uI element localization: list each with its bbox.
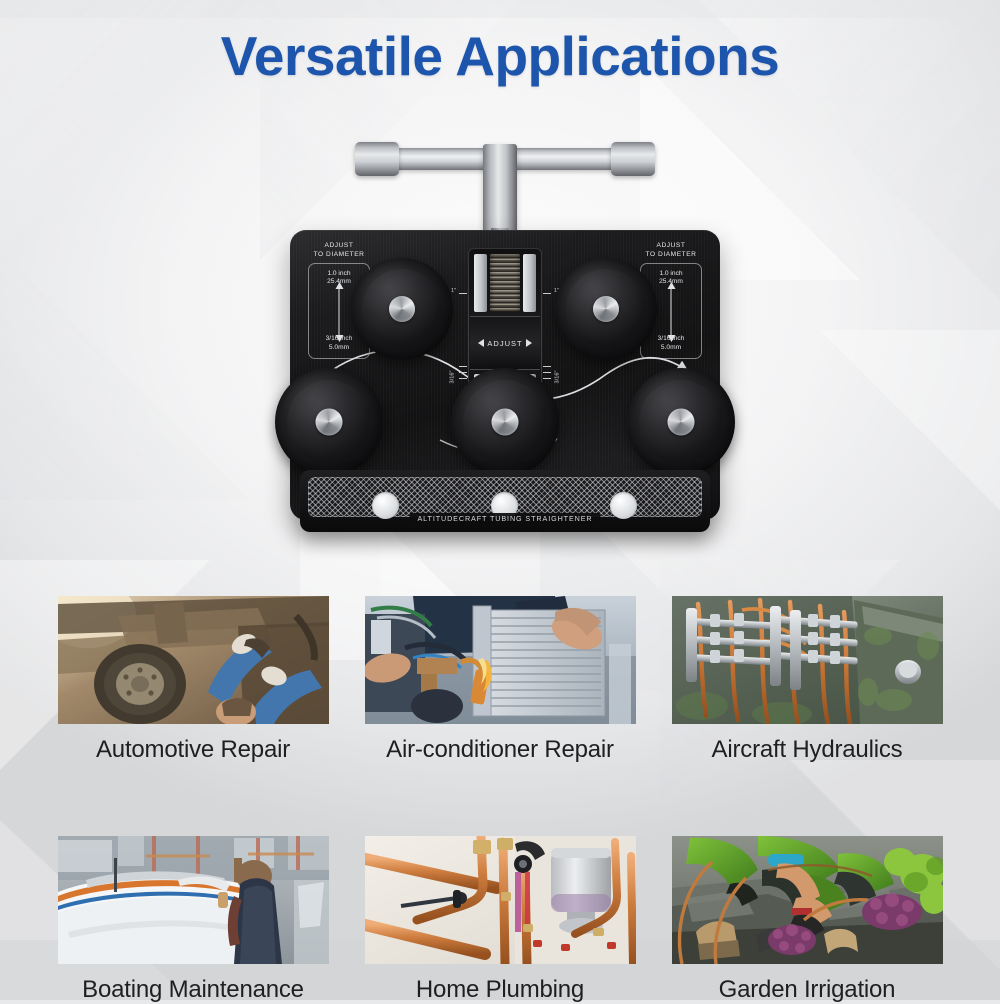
application-cell-home-plumbing[interactable]: Home Plumbing bbox=[365, 836, 636, 1004]
roller-hub bbox=[492, 409, 519, 436]
application-label: Air-conditioner Repair bbox=[365, 736, 636, 764]
right-max-inch: 1.0 inch bbox=[641, 270, 701, 278]
photo-boat-hull-worker bbox=[58, 836, 329, 964]
screw-guide-top-right bbox=[523, 254, 536, 312]
roller-bottom-left bbox=[275, 368, 383, 476]
photo-hvac-condenser-coil bbox=[365, 596, 636, 724]
adjust-right-arrow-icon bbox=[526, 339, 532, 347]
scale-tick-left-3 bbox=[459, 372, 467, 373]
applications-grid: Automotive Repair bbox=[0, 596, 1000, 1004]
scale-bottom-left-label: 3/16" bbox=[449, 371, 455, 384]
applications-row-1: Automotive Repair bbox=[0, 596, 1000, 764]
application-label: Aircraft Hydraulics bbox=[672, 736, 943, 764]
right-min-inch: 3/16 inch bbox=[641, 335, 701, 343]
brand-plate-text: ALTITUDECRAFT TUBING STRAIGHTENER bbox=[417, 514, 592, 523]
scale-tick-right-3 bbox=[543, 372, 551, 373]
page-header: Versatile Applications bbox=[0, 24, 1000, 88]
page-title: Versatile Applications bbox=[0, 24, 1000, 88]
scale-bottom-right-label: 3/16" bbox=[555, 371, 561, 384]
roller-hub bbox=[389, 296, 415, 322]
left-adjust-heading-line1: ADJUST bbox=[308, 242, 370, 251]
adjust-indicator-band: ADJUST bbox=[470, 316, 540, 370]
right-min-group: 3/16 inch 5.0mm bbox=[641, 335, 701, 352]
scale-tick-left-2 bbox=[459, 366, 467, 367]
left-range-arrow-icon bbox=[339, 288, 340, 336]
right-min-mm: 5.0mm bbox=[641, 344, 701, 352]
photo-mechanic-under-car bbox=[58, 596, 329, 724]
left-adjust-heading-line2: TO DIAMETER bbox=[308, 251, 370, 260]
roller-hub bbox=[593, 296, 619, 322]
photo-gardener-planting-tubing bbox=[672, 836, 943, 964]
roller-top-left bbox=[351, 258, 453, 360]
roller-hub bbox=[316, 409, 343, 436]
scale-tick-right-4 bbox=[543, 378, 551, 379]
product-assembly: ADJUST TO DIAMETER 1.0 inch 25.4mm 3/16 … bbox=[255, 120, 755, 560]
application-cell-automotive-repair[interactable]: Automotive Repair bbox=[58, 596, 329, 764]
scale-tick-left-4 bbox=[459, 378, 467, 379]
left-max-inch: 1.0 inch bbox=[309, 270, 369, 278]
handle-cap-left bbox=[355, 142, 399, 176]
hero-product-image: ADJUST TO DIAMETER 1.0 inch 25.4mm 3/16 … bbox=[0, 120, 1000, 580]
base-foot-rail: ALTITUDECRAFT TUBING STRAIGHTENER bbox=[300, 470, 710, 532]
photo-copper-hydraulic-lines bbox=[672, 596, 943, 724]
application-cell-garden-irrigation[interactable]: Garden Irrigation bbox=[672, 836, 943, 1004]
application-label: Automotive Repair bbox=[58, 736, 329, 764]
handle-post bbox=[483, 144, 517, 234]
brand-plate: ALTITUDECRAFT TUBING STRAIGHTENER bbox=[409, 513, 600, 524]
roller-bottom-right bbox=[627, 368, 735, 476]
left-min-mm: 5.0mm bbox=[309, 344, 369, 352]
right-adjust-heading-line2: TO DIAMETER bbox=[640, 251, 702, 260]
applications-row-2: Boating Maintenance bbox=[0, 836, 1000, 1004]
roller-bottom-center bbox=[451, 368, 559, 476]
right-adjust-heading-line1: ADJUST bbox=[640, 242, 702, 251]
scale-tick-right bbox=[543, 293, 551, 294]
application-cell-air-conditioner-repair[interactable]: Air-conditioner Repair bbox=[365, 596, 636, 764]
application-cell-aircraft-hydraulics[interactable]: Aircraft Hydraulics bbox=[672, 596, 943, 764]
threaded-screw-top bbox=[490, 254, 520, 312]
adjust-label: ADJUST bbox=[487, 339, 522, 348]
right-range-arrow-icon bbox=[671, 288, 672, 336]
scale-tick-right-2 bbox=[543, 366, 551, 367]
roller-hub bbox=[668, 409, 695, 436]
scale-top-left-label: 1" bbox=[451, 288, 456, 294]
photo-copper-pipes-expansion-tank bbox=[365, 836, 636, 964]
mounting-hole-left bbox=[372, 492, 399, 519]
mounting-hole-right bbox=[610, 492, 637, 519]
scale-tick-left bbox=[459, 293, 467, 294]
handle-cap-right bbox=[611, 142, 655, 176]
adjust-left-arrow-icon bbox=[478, 339, 484, 347]
screw-guide-top-left bbox=[474, 254, 487, 312]
application-cell-boating-maintenance[interactable]: Boating Maintenance bbox=[58, 836, 329, 1004]
roller-top-right bbox=[555, 258, 657, 360]
